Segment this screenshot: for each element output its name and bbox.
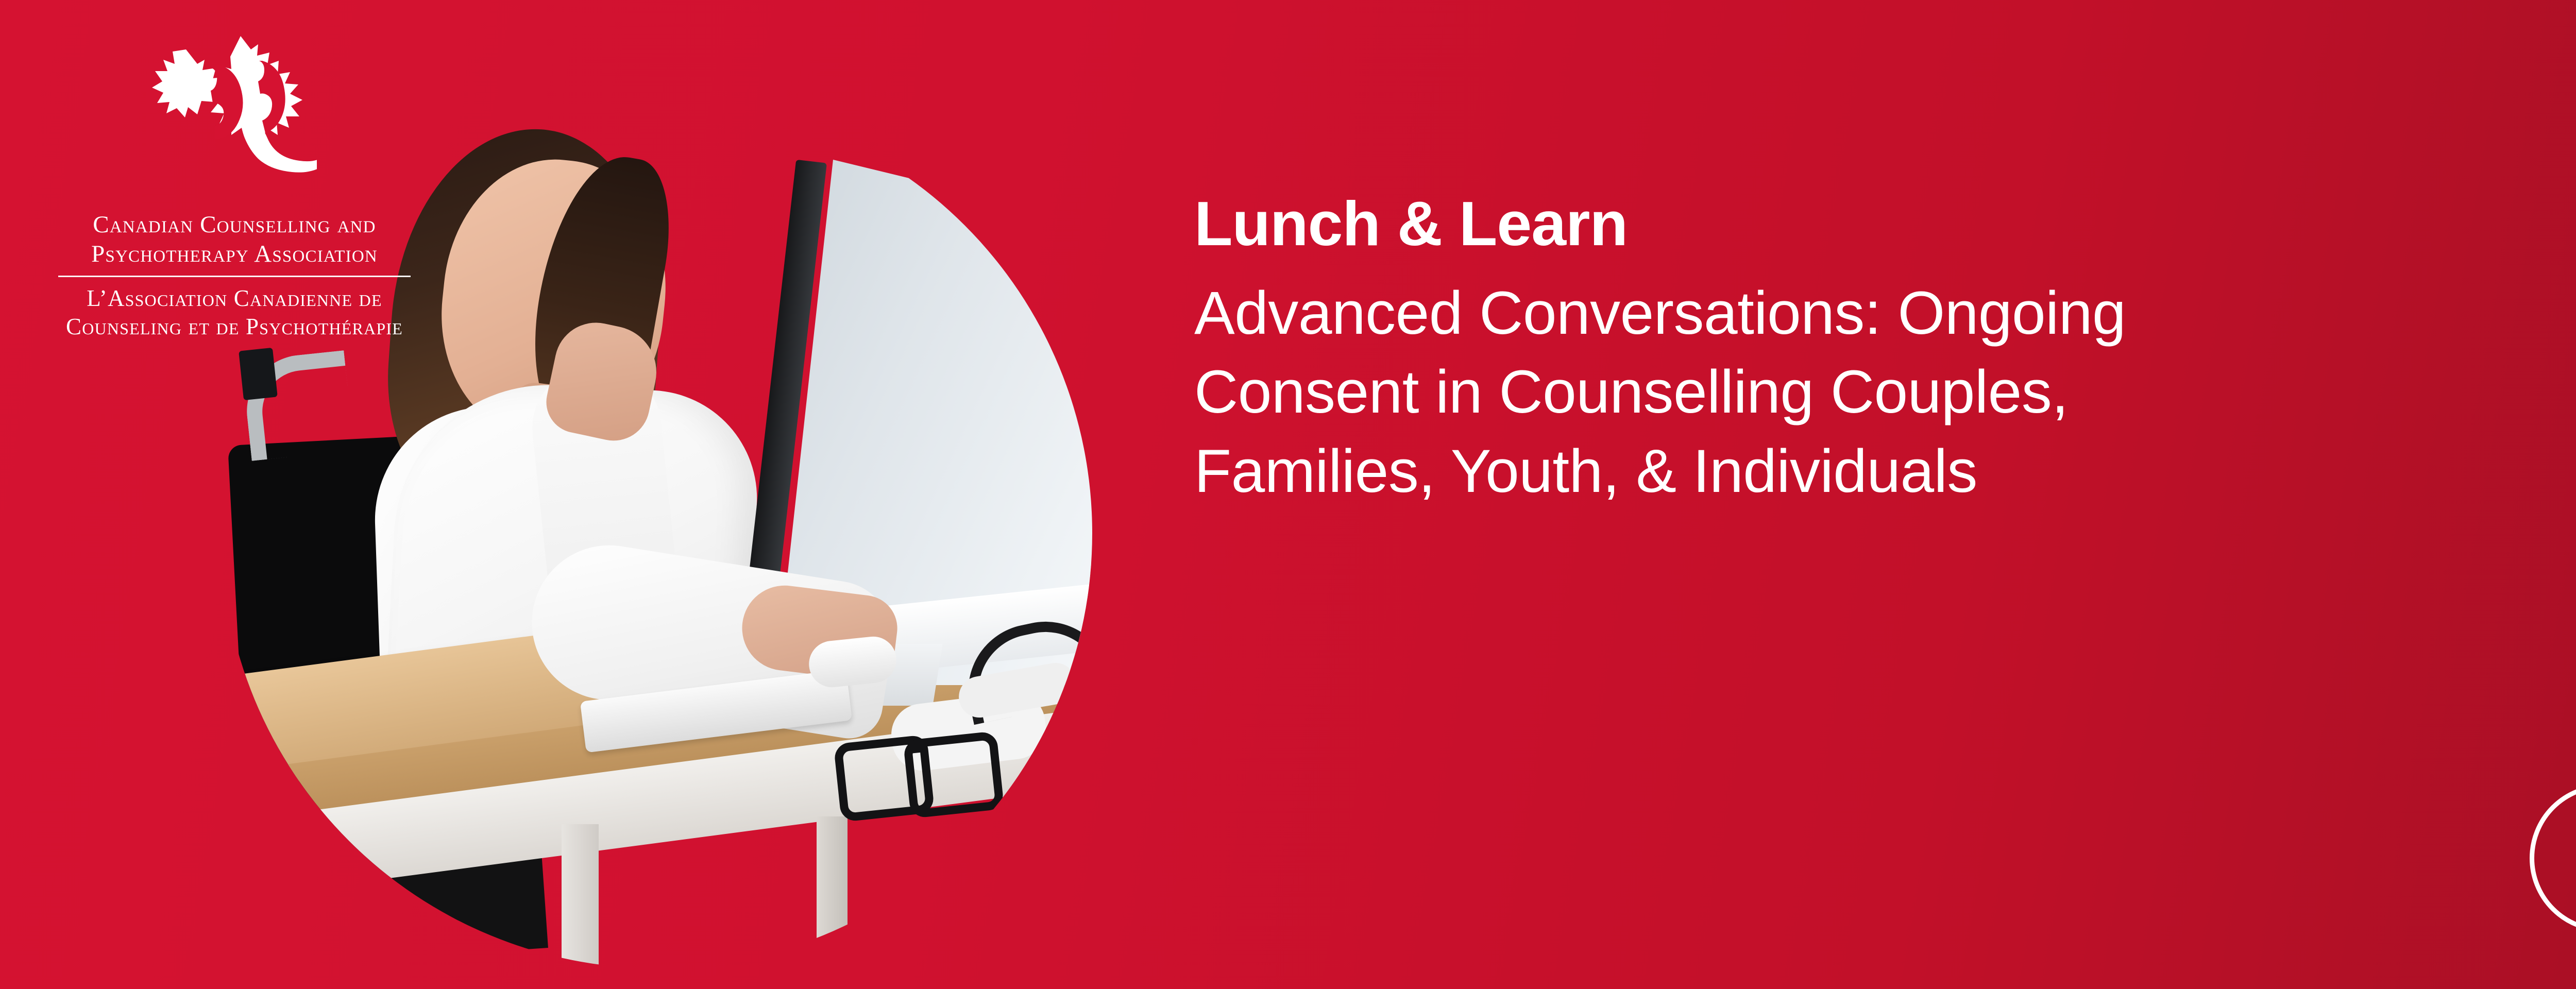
eyeglasses-right-lens-illustration <box>903 731 1005 819</box>
headline-block: Lunch & Learn Advanced Conversations: On… <box>1194 191 2576 511</box>
event-kicker: Lunch & Learn <box>1194 191 2576 257</box>
event-title: Advanced Conversations: Ongoing Consent … <box>1194 274 2576 511</box>
event-title-line-2: Consent in Counselling Couples, <box>1194 353 2576 432</box>
register-now-label: REGISTER NOW <box>2562 789 2576 928</box>
logo-wordmark: Canadian Counselling and Psychotherapy A… <box>54 210 415 340</box>
desk-leg-left-illustration <box>562 824 599 968</box>
logo-english-line-2: Psychotherapy Association <box>54 240 415 269</box>
organization-logo: Canadian Counselling and Psychotherapy A… <box>54 31 415 340</box>
maple-leaf-two-faces-icon <box>152 31 317 201</box>
logo-english-line-1: Canadian Counselling and <box>54 210 415 240</box>
logo-divider-rule <box>58 276 411 277</box>
event-title-line-1: Advanced Conversations: Ongoing <box>1194 274 2576 353</box>
promo-banner: Canadian Counselling and Psychotherapy A… <box>0 0 2576 989</box>
wheelchair-handle-cap-illustration <box>239 348 278 400</box>
desk-leg-right-illustration <box>817 816 848 968</box>
logo-french-line-2: Counseling et de Psychothérapie <box>54 313 415 341</box>
register-now-button[interactable]: REGISTER NOW <box>2530 784 2576 932</box>
event-title-line-3: Families, Youth, & Individuals <box>1194 432 2576 511</box>
logo-french-line-1: L’Association Canadienne de <box>54 284 415 313</box>
